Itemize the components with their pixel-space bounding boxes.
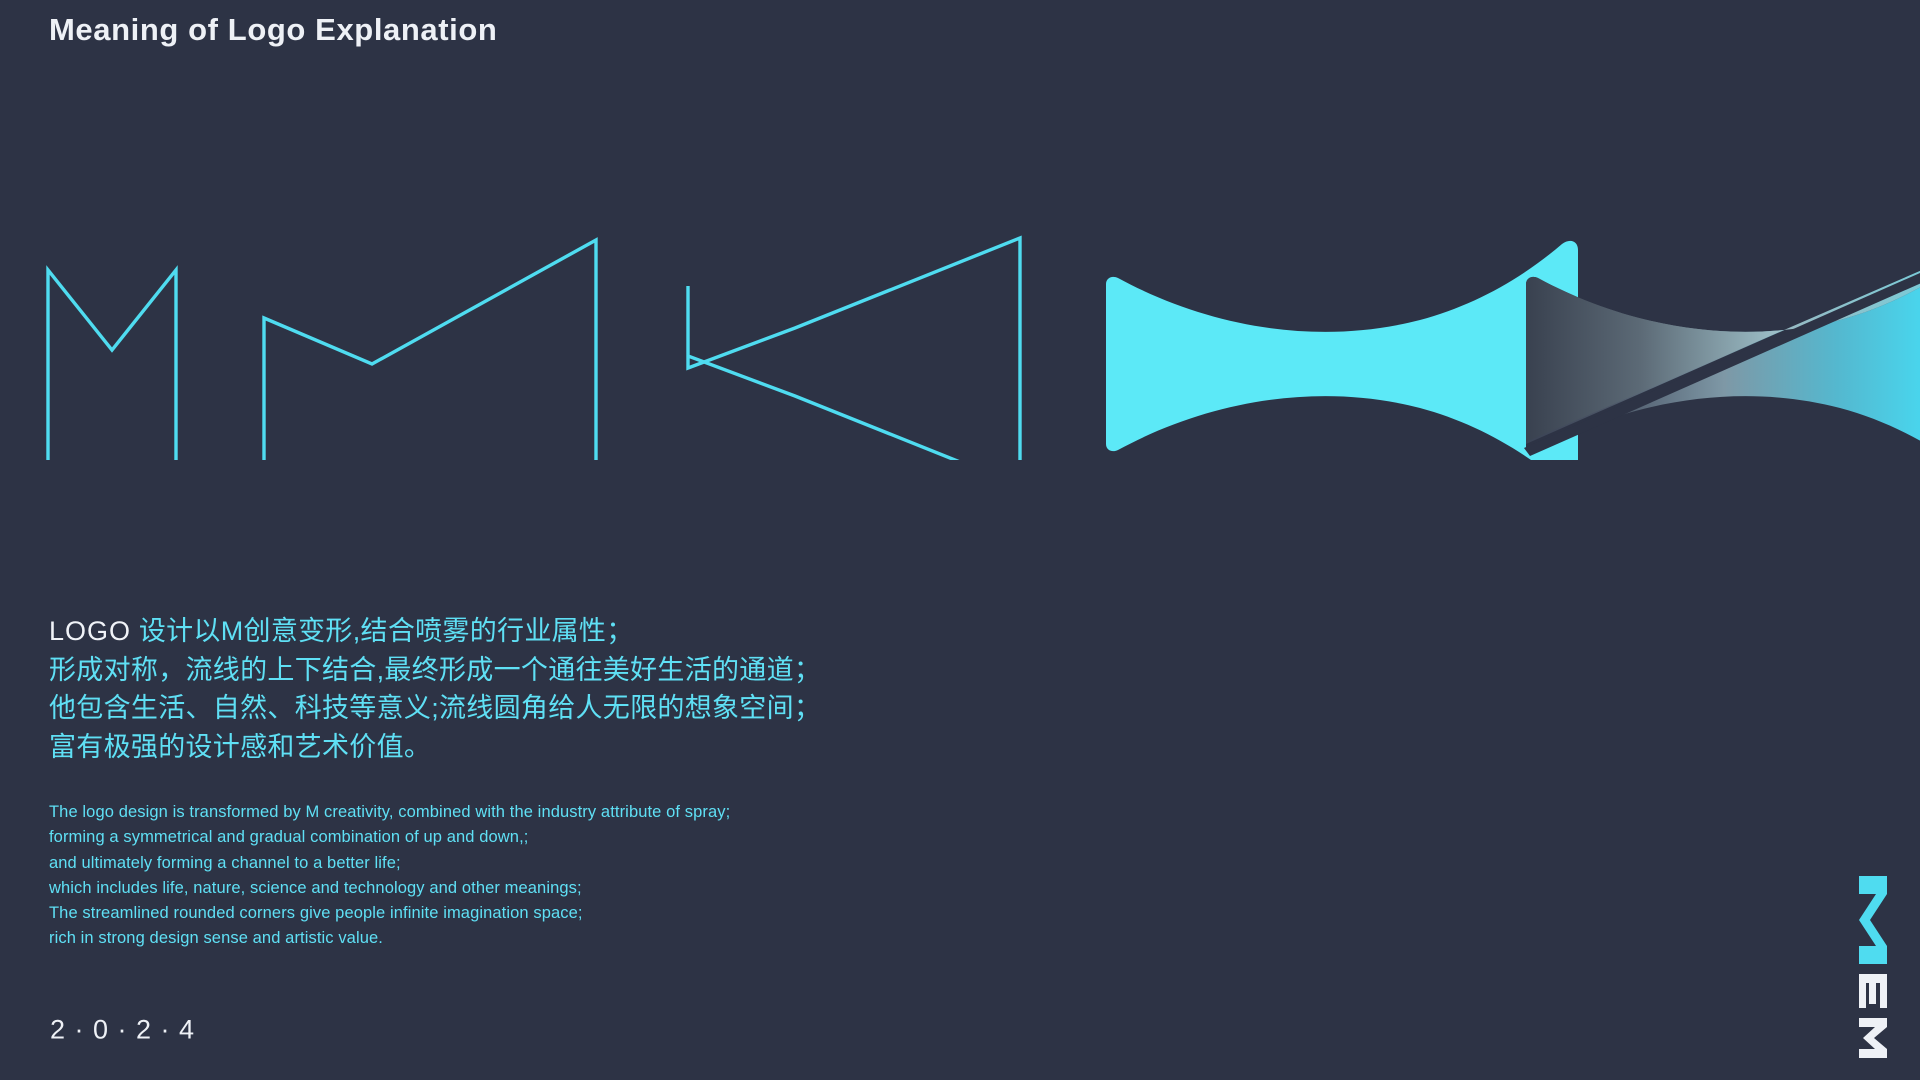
logo-step-5-gradient-hourglass (1524, 241, 1920, 460)
memori-wordmark (1859, 974, 1887, 1064)
logo-evolution-strip (0, 180, 1920, 460)
cn-line-3: 他包含生活、自然、科技等意义;流线圆角给人无限的想象空间； (49, 689, 1249, 728)
description-cn: LOGO 设计以M创意变形,结合喷雾的行业属性； 形成对称，流线的上下结合,最终… (49, 612, 1249, 766)
logo-step-4-solid-hourglass (1106, 241, 1578, 460)
memori-m-icon (1859, 876, 1887, 964)
en-line-1: The logo design is transformed by M crea… (49, 800, 1249, 825)
slide-root: Meaning of Logo Explanation (0, 0, 1920, 1080)
en-line-2: forming a symmetrical and gradual combin… (49, 825, 1249, 850)
en-line-3: and ultimately forming a channel to a be… (49, 851, 1249, 876)
logo-step-3-bowtie-outline (688, 238, 1020, 460)
logo-step-1-m-outline (48, 270, 176, 460)
cn-line-1: LOGO 设计以M创意变形,结合喷雾的行业属性； (49, 612, 1249, 651)
year-label: 2 · 0 · 2 · 4 (50, 1015, 195, 1046)
en-line-4: which includes life, nature, science and… (49, 876, 1249, 901)
en-line-6: rich in strong design sense and artistic… (49, 926, 1249, 951)
description-en: The logo design is transformed by M crea… (49, 800, 1249, 952)
en-line-5: The streamlined rounded corners give peo… (49, 901, 1249, 926)
cn-lead-logo: LOGO (49, 616, 131, 646)
cn-line-1-text: 设计以M创意变形,结合喷雾的行业属性； (131, 616, 634, 646)
logo-step-2-flattened-m (264, 240, 596, 460)
cn-line-4: 富有极强的设计感和艺术价值。 (49, 728, 1249, 767)
brand-memori (1836, 744, 1912, 1064)
cn-line-2: 形成对称，流线的上下结合,最终形成一个通往美好生活的通道； (49, 651, 1249, 690)
page-title: Meaning of Logo Explanation (49, 12, 497, 48)
